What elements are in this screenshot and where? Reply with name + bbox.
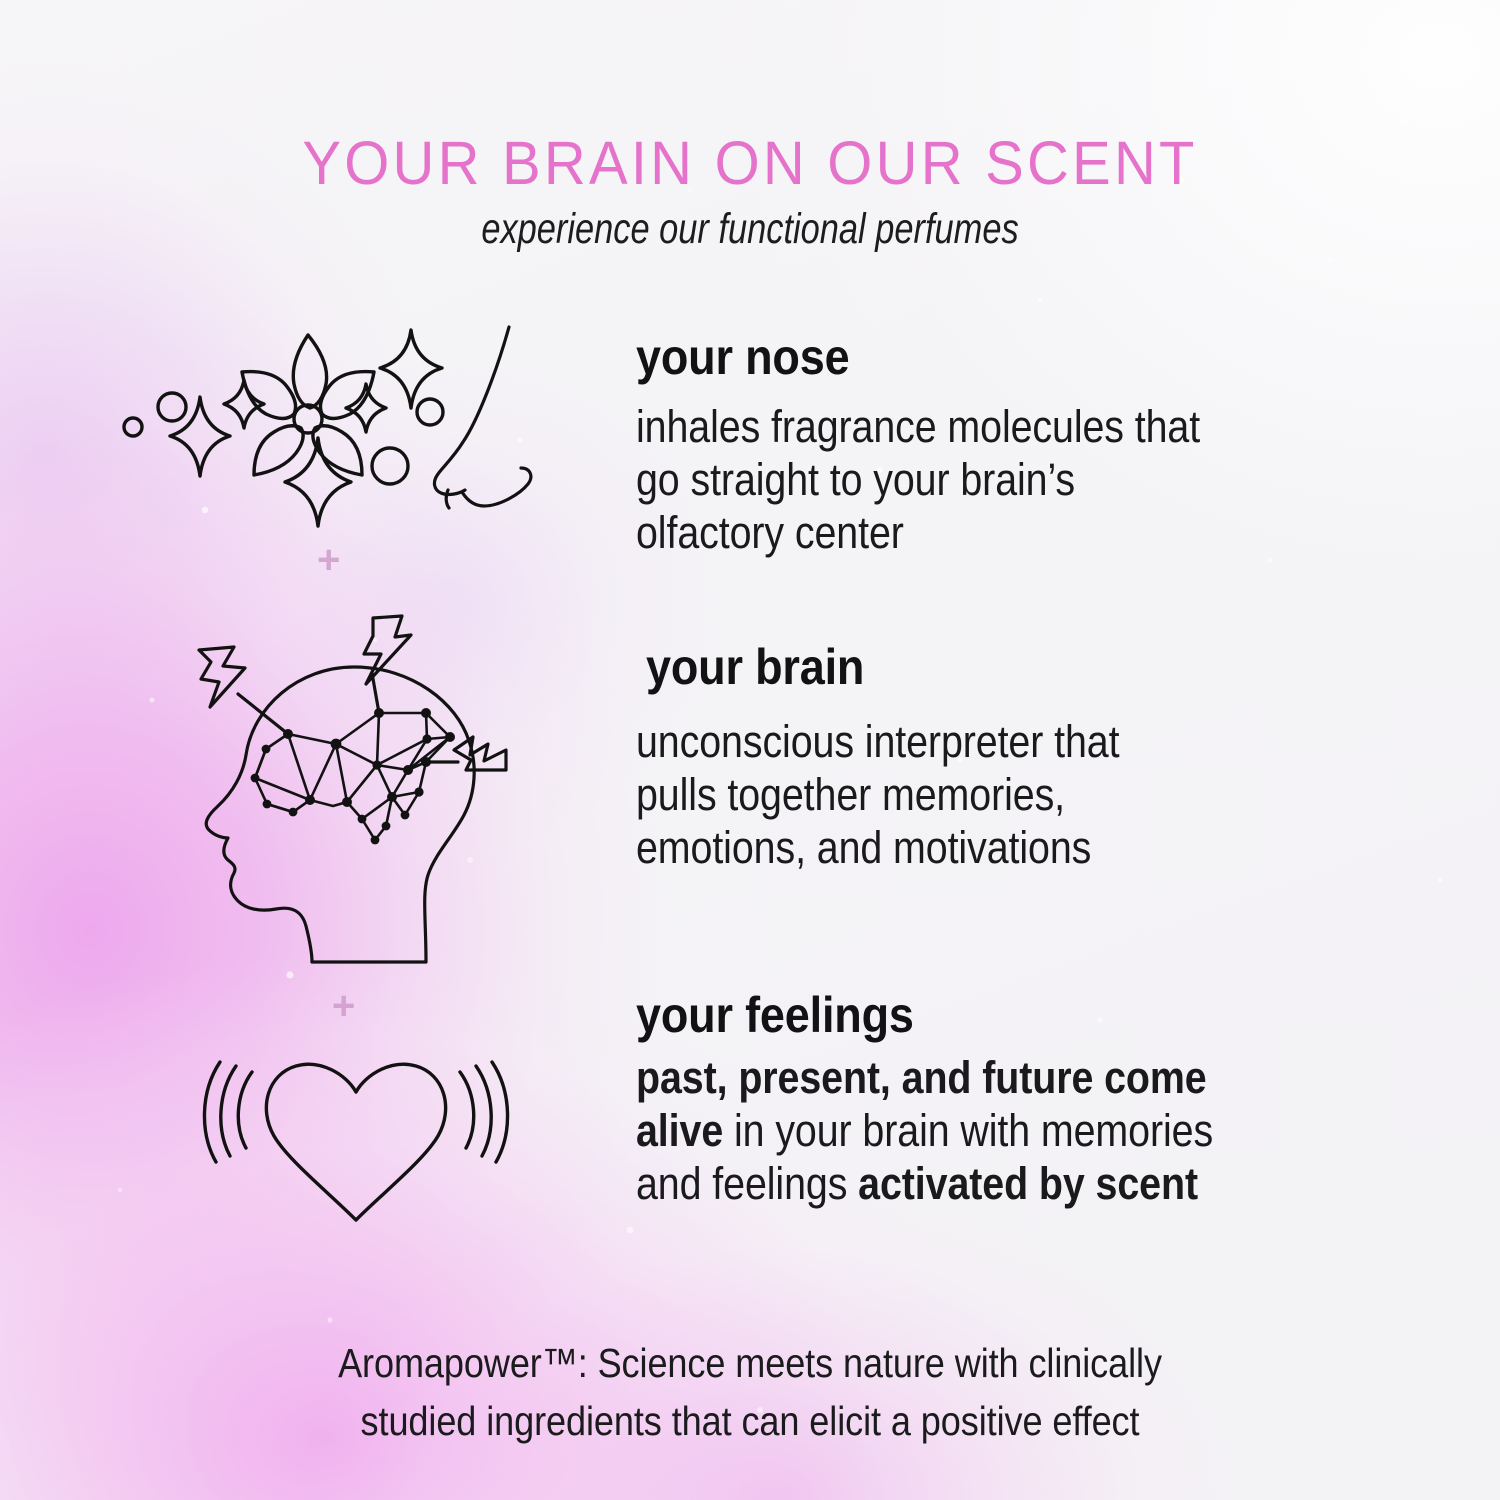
nose-body: inhales fragrance molecules that go stra… — [636, 400, 1200, 559]
page-title: YOUR BRAIN ON OUR SCENT — [38, 133, 1463, 194]
section-nose: your nose inhales fragrance molecules th… — [0, 330, 1500, 590]
brain-body-line-2: pulls together memories, — [636, 768, 1119, 821]
lightning-bolt-left — [199, 647, 245, 707]
bolt-trail-top — [372, 673, 379, 713]
brain-body: unconscious interpreter that pulls toget… — [636, 715, 1119, 874]
vibration-arcs-right — [460, 1062, 508, 1162]
sparkle-icon-2 — [224, 380, 264, 428]
feelings-line3-regular: and feelings — [636, 1158, 858, 1209]
nose-icon-art — [118, 322, 598, 522]
sparkle-icon-4 — [380, 330, 442, 408]
feelings-body-line-2: alive in your brain with memories — [636, 1104, 1213, 1157]
nose-text-block: your nose inhales fragrance molecules th… — [636, 332, 1281, 559]
feelings-line1-bold: past, present, and future come — [636, 1052, 1207, 1103]
feelings-line2-bold: alive — [636, 1105, 723, 1156]
page-subtitle: experience our functional perfumes — [150, 208, 1350, 251]
heart-icon-art — [196, 1044, 516, 1244]
feelings-body: past, present, and future come alive in … — [636, 1051, 1213, 1210]
infographic-page: YOUR BRAIN ON OUR SCENT experience our f… — [0, 0, 1500, 1500]
header: YOUR BRAIN ON OUR SCENT experience our f… — [0, 133, 1500, 251]
section-brain: your brain unconscious interpreter that … — [0, 612, 1500, 972]
brain-body-line-3: emotions, and motivations — [636, 821, 1119, 874]
nose-profile-icon — [434, 327, 530, 508]
feelings-line2-regular: in your brain with memories — [723, 1105, 1213, 1156]
bolt-trail-left — [238, 694, 288, 734]
feelings-text-block: your feelings past, present, and future … — [636, 990, 1296, 1210]
dot-circle-small-3 — [417, 399, 443, 425]
vibration-arcs-left — [204, 1062, 252, 1162]
nose-sparkle-flower-icon — [118, 322, 598, 522]
dot-circle-small-4 — [372, 448, 408, 484]
heart-vibration-icon — [196, 1044, 516, 1244]
footer-note: Aromapower™: Science meets nature with c… — [0, 1334, 1500, 1450]
feelings-heading: your feelings — [636, 990, 1230, 1041]
head-brain-network-icon — [176, 610, 556, 980]
feelings-line3-bold: activated by scent — [858, 1158, 1198, 1209]
feelings-body-line-1: past, present, and future come — [636, 1051, 1213, 1104]
dot-circle-small-2 — [158, 393, 186, 421]
footer-line-2: studied ingredients that can elicit a po… — [90, 1392, 1410, 1450]
nose-body-line-3: olfactory center — [636, 506, 1200, 559]
nose-body-line-2: go straight to your brain’s — [636, 453, 1200, 506]
flower-center — [294, 405, 322, 433]
head-outline — [206, 667, 474, 962]
sparkle-icon-1 — [170, 397, 230, 476]
footer-line-1: Aromapower™: Science meets nature with c… — [90, 1334, 1410, 1392]
nose-body-line-1: inhales fragrance molecules that — [636, 400, 1200, 453]
lightning-bolt-right — [454, 737, 506, 770]
brain-heading: your brain — [646, 642, 1134, 693]
heart-outline — [266, 1064, 445, 1220]
brain-icon-art — [176, 610, 556, 980]
flower-petal-left-lower — [254, 426, 303, 475]
brain-text-block: your brain unconscious interpreter that … — [636, 642, 1189, 874]
section-feelings: your feelings past, present, and future … — [0, 990, 1500, 1250]
feelings-body-line-3: and feelings activated by scent — [636, 1157, 1213, 1210]
sparkle-icon-3 — [346, 384, 386, 432]
dot-circle-small-1 — [124, 418, 142, 436]
brain-body-line-1: unconscious interpreter that — [636, 715, 1119, 768]
flower-petal-right-upper — [320, 372, 374, 419]
nose-heading: your nose — [636, 332, 1216, 383]
